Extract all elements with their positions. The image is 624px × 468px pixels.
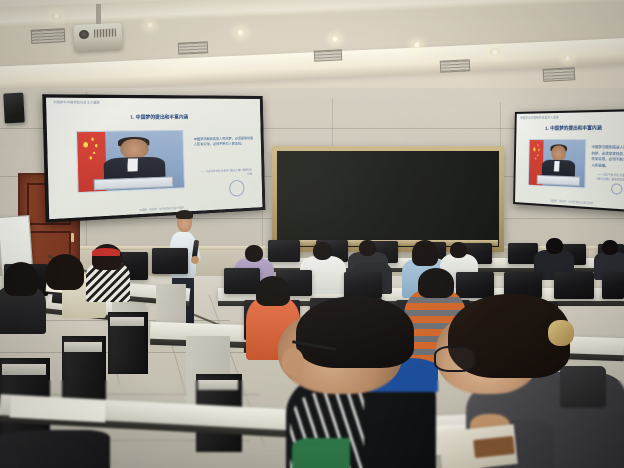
ceiling-vent-1 (31, 28, 66, 44)
student-purple-shirt-head (245, 245, 263, 262)
attendee-suit-right-head (546, 238, 563, 254)
jacket-stripe-green (292, 438, 350, 468)
student-white-shirt-head (313, 242, 332, 260)
projector-mount (96, 4, 101, 26)
student-front-black-jacket-ear (282, 348, 304, 376)
slide-podium-right (537, 175, 580, 186)
slide-podium (93, 176, 173, 191)
projection-screen-right: 中国梦与中国特色社会主义道路 1. 中国梦的提出和丰富内涵 中国梦归根到底是人民… (513, 109, 624, 212)
projection-screen-right-surface: 中国梦与中国特色社会主义道路 1. 中国梦的提出和丰富内涵 中国梦归根到底是人民… (515, 111, 624, 210)
chalkboard (272, 146, 504, 252)
downlight-5 (413, 42, 421, 48)
pc-tower-left-3-panel (110, 317, 144, 326)
student-blue-shirt-hair (412, 240, 438, 266)
slide-seal-icon (229, 180, 245, 197)
wall-speaker-icon (3, 92, 25, 123)
slide-signature-left: ——习近平总书记 在参观《复兴之路》展览时的讲话 (201, 169, 253, 179)
slide-body-text-right: 中国梦归根到底是人民的梦，必须紧紧依靠人民来实现，必须不断为人民造福。 (591, 145, 624, 171)
slide-header-right: 中国梦与中国特色社会主义道路 (520, 115, 559, 120)
ceiling-vent-5 (543, 67, 576, 82)
monitor-mid-7 (602, 272, 624, 299)
door-handle-icon[interactable] (71, 233, 74, 242)
hair-clip-icon (548, 320, 574, 346)
monitor-mid-6 (554, 272, 594, 299)
slide-title-right: 1. 中国梦的提出和丰富内涵 (516, 125, 624, 132)
downlight-6 (490, 48, 500, 56)
student-mid-dark-head (359, 240, 376, 256)
ceiling-vent-3 (314, 49, 343, 61)
pc-tower-left-2-panel (64, 342, 102, 352)
slide-speaker-shirt (127, 158, 138, 171)
slide-speaker-head-right (551, 145, 566, 161)
presenter-hair (176, 210, 193, 219)
downlight-7 (564, 55, 571, 61)
student-orange-striped-hair (418, 268, 454, 298)
student-front-black-jacket-hair (296, 296, 414, 368)
downlight-3 (236, 29, 245, 36)
monitor-mid-3 (344, 272, 382, 298)
bag-icon (560, 366, 606, 408)
pc-tower-front-1-panel (198, 380, 238, 390)
projector-vent (94, 28, 116, 37)
slide-body-text-left: 中国梦归根到底是人民的梦，必须紧紧依靠人民来实现，必须不断为人民造福。 (194, 136, 254, 149)
downlight-1 (52, 13, 61, 20)
monitor-mid-1 (224, 268, 260, 294)
slide-signature-right: ——习近平总书记 在参观《复兴之路》展览时的讲话 (595, 173, 624, 183)
student-foreground-left-shoulder (0, 430, 110, 468)
downlight-4 (331, 36, 339, 42)
monitor-mid-4 (456, 272, 494, 298)
ceiling-vent-4 (440, 59, 471, 73)
monitor-back-1 (268, 240, 300, 262)
slide-title-left: 1. 中国梦的提出和丰富内涵 (46, 114, 260, 121)
student-far-left-dark-hair (4, 262, 38, 296)
slide-photo-right (528, 139, 586, 188)
slide-speaker-shirt-right (554, 161, 560, 171)
classroom-photo: 中国梦与中国特色社会主义道路 1. 中国梦的提出和丰富内涵 中国梦归根到底是人民… (0, 0, 624, 468)
slide-speaker-head (120, 139, 148, 159)
downlight-2 (146, 22, 154, 28)
student-left-beige-hair (46, 254, 84, 290)
student-orange-tee-hair (256, 276, 290, 306)
pc-tower-left-1-panel (2, 364, 46, 375)
projection-screen-left-surface: 中国梦与中国特色社会主义道路 1. 中国梦的提出和丰富内涵 中国梦归根到底是人民… (46, 98, 262, 220)
ceiling-vent-2 (178, 41, 209, 55)
chalkboard-surface (277, 151, 499, 247)
monitor-left-3 (152, 248, 188, 274)
glasses-frame-icon (434, 346, 476, 372)
presenter-hand (191, 256, 199, 264)
student-back-white-head (450, 242, 467, 258)
red-hairband-icon (92, 248, 120, 256)
slide-photo-left (75, 130, 184, 193)
projection-screen-left: 中国梦与中国特色社会主义道路 1. 中国梦的提出和丰富内涵 中国梦归根到底是人民… (42, 94, 265, 223)
attendee-suit-far-right-head (602, 240, 618, 255)
slide-header-left: 中国梦与中国特色社会主义道路 (53, 100, 100, 105)
slide-seal-icon-right (611, 183, 623, 194)
